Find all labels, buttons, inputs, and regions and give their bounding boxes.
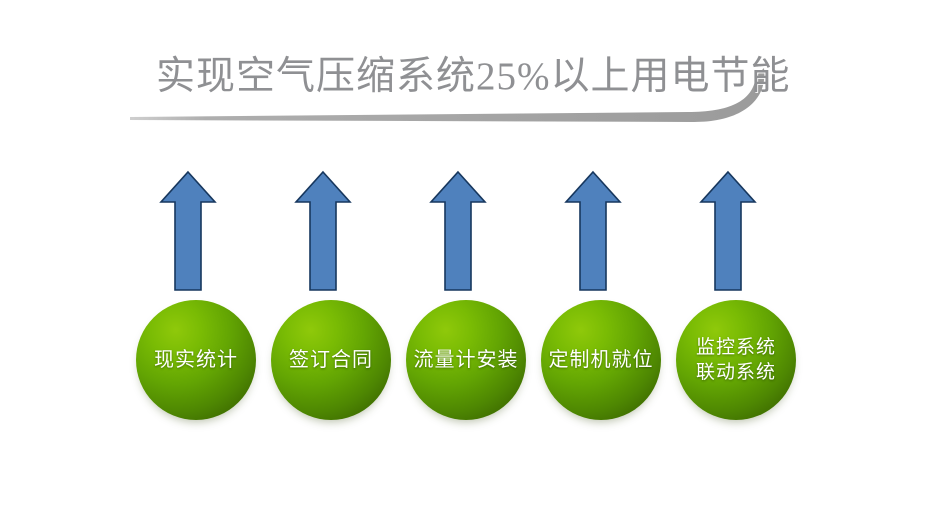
slide-canvas: 实现空气压缩系统25%以上用电节能 现实统计 签订合同 流量计安装 定制机就位 … bbox=[0, 0, 945, 529]
page-title: 实现空气压缩系统25%以上用电节能 bbox=[156, 46, 756, 108]
step-circle-5[interactable]: 监控系统 联动系统 bbox=[676, 300, 796, 420]
step-circle-1[interactable]: 现实统计 bbox=[136, 300, 256, 420]
step-circle-label-5: 监控系统 联动系统 bbox=[692, 335, 780, 385]
step-circle-3[interactable]: 流量计安装 bbox=[406, 300, 526, 420]
up-arrow-icon-2 bbox=[294, 170, 352, 292]
up-arrow-icon-5 bbox=[699, 170, 757, 292]
step-circle-label-3: 流量计安装 bbox=[410, 348, 523, 373]
up-arrow-icon-3 bbox=[429, 170, 487, 292]
title-block: 实现空气压缩系统25%以上用电节能 bbox=[128, 38, 788, 130]
step-circle-label-4: 定制机就位 bbox=[545, 348, 658, 373]
step-circle-2[interactable]: 签订合同 bbox=[271, 300, 391, 420]
step-circle-4[interactable]: 定制机就位 bbox=[541, 300, 661, 420]
up-arrow-icon-1 bbox=[159, 170, 217, 292]
step-circle-label-1: 现实统计 bbox=[150, 348, 242, 373]
step-circle-label-2: 签订合同 bbox=[285, 348, 377, 373]
up-arrow-icon-4 bbox=[564, 170, 622, 292]
